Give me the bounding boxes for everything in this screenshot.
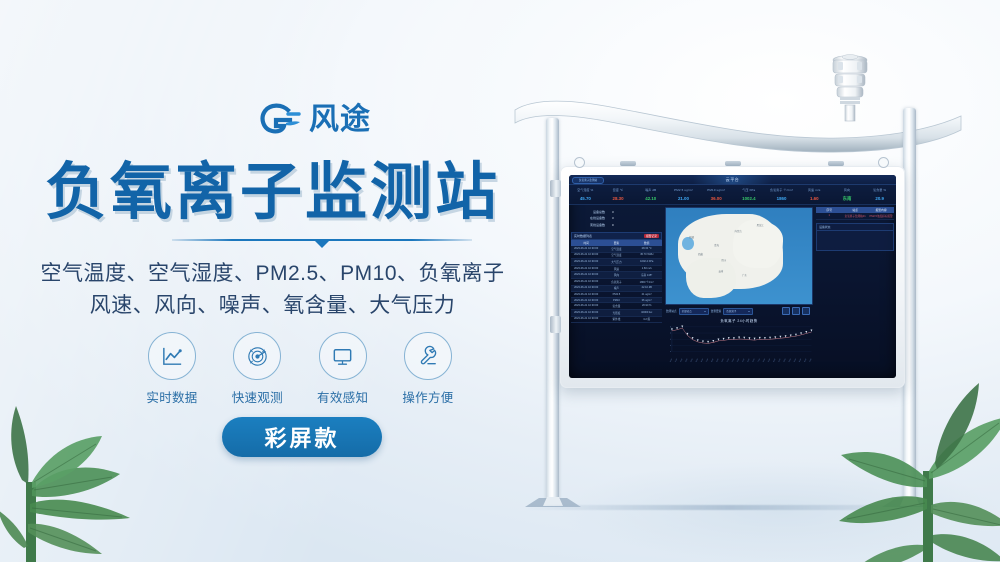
map-region-label: 黑龙江 [757, 223, 764, 227]
cell-element: 氧含量 [601, 303, 631, 309]
svg-text:15:00: 15:00 [747, 358, 750, 362]
kpi-card: 温度 ℃ 28.30 [602, 185, 635, 204]
kpi-strip: 空气湿度 % 45.70 温度 ℃ 28.30 噪声 dB 42.10 PM [569, 185, 896, 205]
chart-controls: 监测站点 全部站点 监测要素 负氧离子 [665, 305, 813, 317]
support-post-icon [546, 118, 559, 503]
cabinet-tab-icon [828, 161, 844, 166]
cell-element: 紫外线 [601, 317, 631, 323]
kpi-label: 负氧离子 个/cm³ [765, 188, 798, 192]
cell-value: 1002.4 hPa [632, 259, 662, 265]
kpi-card: 风向 东南 [831, 185, 864, 204]
stat-label: 离线设备数 [583, 223, 605, 227]
cell-value: 1860 个/cm³ [632, 279, 662, 285]
device-stats: 设备总数 3 在线设备数 3 离线设备数 0 [571, 207, 662, 232]
kpi-card: 氧含量 % 20.9 [863, 185, 896, 204]
svg-text:04:00: 04:00 [690, 358, 693, 362]
station-dropdown[interactable]: 全部站点 [679, 308, 709, 315]
kpi-card: 风速 m/s 1.60 [798, 185, 831, 204]
kpi-value: 21.00 [667, 196, 700, 201]
cell-element: 光照度 [601, 310, 631, 316]
kpi-label: 噪声 dB [634, 188, 667, 192]
table-row[interactable]: 2023-06-21 10:30:00 氧含量 20.90 % [571, 303, 662, 310]
data-table-header: 实时数据列表 报警记录 [571, 232, 662, 240]
divider-triangle-icon [314, 240, 330, 248]
svg-text:19:00: 19:00 [768, 358, 771, 362]
kpi-label: PM2.5 ug/m³ [667, 188, 700, 192]
kpi-label: 风速 m/s [798, 188, 831, 192]
ultrasonic-weather-sensor-icon [818, 52, 882, 122]
cabinet-tab-icon [620, 161, 636, 166]
feature-label: 快速观测 [225, 387, 289, 406]
stat-value: 3 [612, 210, 614, 214]
map-region-label: 广东 [742, 273, 747, 277]
svg-text:26:00: 26:00 [804, 358, 807, 362]
poster-canvas: 风途 负氧离子监测站 空气温度、空气湿度、PM2.5、PM10、负氧离子 风速、… [0, 0, 1000, 562]
kpi-label: 氧含量 % [863, 188, 896, 192]
kpi-label: PM10 ug/m³ [700, 188, 733, 192]
dashboard-header: 负氧离子监测站 云平台 [569, 175, 896, 185]
cell-time: 2023-06-21 10:30:00 [571, 317, 601, 323]
alarm-badge[interactable]: 报警记录 [644, 234, 659, 238]
cabinet-eyelet-icon [878, 157, 889, 168]
svg-text:02:00: 02:00 [680, 358, 683, 362]
svg-text:01:00: 01:00 [675, 358, 678, 362]
cell-value: 3.2 级 [632, 317, 662, 323]
cell-element: 噪声 [601, 286, 631, 292]
svg-text:05:00: 05:00 [695, 358, 698, 362]
kpi-value: 42.10 [634, 196, 667, 201]
kpi-value: 1.60 [798, 196, 831, 201]
cell-time: 2023-06-21 10:30:00 [571, 246, 601, 252]
kpi-value: 1002.4 [733, 196, 766, 201]
svg-text:11:00: 11:00 [726, 358, 729, 362]
svg-text:24:00: 24:00 [793, 358, 796, 362]
svg-text:17:00: 17:00 [757, 358, 760, 362]
subtitle-line-1: 空气温度、空气湿度、PM2.5、PM10、负氧离子 [0, 258, 545, 290]
feature-label: 操作方便 [396, 387, 460, 406]
cell-time: 2023-06-21 10:30:00 [571, 259, 601, 265]
feature-label: 有效感知 [311, 387, 375, 406]
dashboard-body: 设备总数 3 在线设备数 3 离线设备数 0 [569, 205, 896, 366]
table-row[interactable]: 2023-06-21 10:30:00 风速 1.60 m/s [571, 266, 662, 273]
cabinet-hinge-icon [550, 180, 561, 197]
map-region-label: 内蒙古 [735, 229, 742, 233]
cell-element: PM2.5 [601, 292, 631, 297]
cell-element: 风速 [601, 266, 631, 272]
svg-text:10:00: 10:00 [721, 358, 724, 362]
subtitle-line-2: 风速、风向、噪声、氧含量、大气压力 [0, 290, 545, 322]
svg-text:13:00: 13:00 [737, 358, 740, 362]
svg-text:23:00: 23:00 [788, 358, 791, 362]
title-divider [172, 236, 472, 248]
cabinet-tab-icon [725, 161, 741, 166]
table-row[interactable]: 2023-06-21 10:30:00 紫外线 3.2 级 [571, 317, 662, 324]
kpi-card: 负氧离子 个/cm³ 1860 [765, 185, 798, 204]
landmass-shape [686, 258, 736, 298]
svg-text:14:00: 14:00 [742, 358, 745, 362]
table-row[interactable]: 2023-06-21 10:30:00 空气温度 28.30 ℃ [571, 246, 662, 253]
control-label: 监测要素 [711, 309, 722, 313]
lcd-screen[interactable]: 负氧离子监测站 云平台 空气湿度 % 45.70 温度 ℃ 28.30 [569, 175, 896, 378]
stat-row: 设备总数 3 [583, 210, 662, 214]
cell-value: 东南 135° [632, 272, 662, 278]
left-column: 设备总数 3 在线设备数 3 离线设备数 0 [569, 205, 664, 366]
cell-element: 风向 [601, 272, 631, 278]
right-column: 序号 站点 报警内容 1 负氧离子监测站01 PM2.5浓度超标报警 设备状态 [814, 205, 896, 366]
kpi-card: 空气湿度 % 45.70 [569, 185, 602, 204]
cell-time: 2023-06-21 10:30:00 [571, 279, 601, 285]
cell-element: 空气湿度 [601, 253, 631, 259]
map-region-label: 云南 [719, 269, 724, 273]
cell-time: 2023-06-21 10:30:00 [571, 286, 601, 292]
brand-logo: 风途 [258, 101, 371, 139]
feature-item-fast-observation[interactable]: 快速观测 [225, 332, 289, 406]
cell-time: 2023-06-21 10:30:00 [571, 298, 601, 303]
stat-row: 离线设备数 0 [583, 223, 662, 227]
table-row[interactable]: 2023-06-21 10:30:00 风向 东南 135° [571, 272, 662, 279]
display-cabinet: 负氧离子监测站 云平台 空气湿度 % 45.70 温度 ℃ 28.30 [560, 166, 905, 388]
feature-item-easy-operation[interactable]: 操作方便 [396, 332, 460, 406]
cabinet-eyelet-icon [574, 157, 585, 168]
kpi-card: 噪声 dB 42.10 [634, 185, 667, 204]
stat-value: 0 [612, 223, 614, 227]
feature-item-effective-sensing[interactable]: 有效感知 [311, 332, 375, 406]
chart-svg: 00:0001:0002:0003:0004:0005:0006:0007:00… [665, 324, 813, 362]
table-row[interactable]: 2023-06-21 10:30:00 空气湿度 45.70 %RH [571, 253, 662, 260]
cell-value: 28.30 ℃ [632, 246, 662, 252]
element-dropdown[interactable]: 负氧离子 [723, 308, 753, 315]
cell-value: 45.70 %RH [632, 253, 662, 259]
svg-text:27:00: 27:00 [809, 358, 812, 362]
cell-time: 2023-06-21 10:30:00 [571, 310, 601, 316]
svg-text:08:00: 08:00 [711, 358, 714, 362]
svg-text:20:00: 20:00 [773, 358, 776, 362]
trend-chart: 负氧离子 24小时趋势 00:0001:0002:0003:0004:0005:… [665, 318, 813, 366]
svg-text:03:00: 03:00 [685, 358, 688, 362]
svg-text:07:00: 07:00 [706, 358, 709, 362]
cabinet-hinge-icon [550, 316, 561, 333]
table-body: 2023-06-21 10:30:00 空气温度 28.30 ℃ 2023-06… [571, 246, 662, 323]
cell-element: PM10 [601, 298, 631, 303]
table-row[interactable]: 2023-06-21 10:30:00 噪声 42.10 dB [571, 286, 662, 293]
card-title: 设备状态 [817, 224, 893, 231]
kpi-value: 45.70 [569, 196, 602, 201]
map-region-label: 新疆 [689, 235, 694, 239]
svg-text:18:00: 18:00 [762, 358, 765, 362]
cell-time: 2023-06-21 10:30:00 [571, 272, 601, 278]
monitor-icon [319, 332, 367, 380]
feature-list: 实时数据 快速观测 [140, 332, 460, 406]
svg-text:22:00: 22:00 [783, 358, 786, 362]
dashboard-title: 云平台 [569, 177, 896, 183]
hero-subtitle: 空气温度、空气湿度、PM2.5、PM10、负氧离子 风速、风向、噪声、氧含量、大… [0, 258, 545, 321]
svg-text:16:00: 16:00 [752, 358, 755, 362]
brand-name: 风途 [309, 105, 371, 135]
device-status-card: 设备状态 [816, 223, 894, 251]
stat-value: 3 [612, 216, 614, 220]
cell-value: 21 ug/m³ [632, 292, 662, 297]
kpi-value: 20.9 [863, 196, 896, 201]
banana-leaf-icon [0, 362, 182, 562]
svg-text:06:00: 06:00 [700, 358, 703, 362]
alarm-row[interactable]: 1 负氧离子监测站01 PM2.5浓度超标报警 [816, 213, 894, 220]
cell-index: 1 [816, 213, 842, 219]
kpi-value: 1860 [765, 196, 798, 201]
stat-row: 在线设备数 3 [583, 216, 662, 220]
table-row[interactable]: 2023-06-21 10:30:00 大气压力 1002.4 hPa [571, 259, 662, 266]
page-title: 负氧离子监测站 [0, 160, 545, 225]
cell-value: 36 ug/m³ [632, 298, 662, 303]
download-icon[interactable] [782, 307, 790, 315]
table-row[interactable]: 2023-06-21 10:30:00 负氧离子 1860 个/cm³ [571, 279, 662, 286]
model-badge[interactable]: 彩屏款 [222, 417, 382, 457]
curved-canopy-icon [509, 92, 969, 154]
kpi-card: PM2.5 ug/m³ 21.00 [667, 185, 700, 204]
svg-text:12:00: 12:00 [731, 358, 734, 362]
cell-element: 空气温度 [601, 246, 631, 252]
svg-text:21:00: 21:00 [778, 358, 781, 362]
cell-element: 负氧离子 [601, 279, 631, 285]
stat-label: 设备总数 [583, 210, 605, 214]
cell-time: 2023-06-21 10:30:00 [571, 303, 601, 309]
map-region-label: 四川 [721, 258, 726, 262]
cell-value: 32000 lux [632, 310, 662, 316]
kpi-value: 28.30 [602, 196, 635, 201]
stat-label: 在线设备数 [583, 216, 605, 220]
cell-time: 2023-06-21 10:30:00 [571, 292, 601, 297]
wrench-icon [404, 332, 452, 380]
map-region-label: 青海 [714, 243, 719, 247]
cell-message: PM2.5浓度超标报警 [868, 213, 894, 219]
kpi-label: 空气湿度 % [569, 188, 602, 192]
cell-element: 大气压力 [601, 259, 631, 265]
cell-value: 42.10 dB [632, 286, 662, 292]
svg-text:25:00: 25:00 [799, 358, 802, 362]
cell-value: 1.60 m/s [632, 266, 662, 272]
control-label: 监测站点 [666, 309, 677, 313]
cell-time: 2023-06-21 10:30:00 [571, 266, 601, 272]
chart-toolbar [782, 307, 812, 315]
svg-text:09:00: 09:00 [716, 358, 719, 362]
cell-time: 2023-06-21 10:30:00 [571, 253, 601, 259]
center-column: 新疆 西藏 青海 内蒙古 黑龙江 四川 云南 广东 监测站点 [664, 205, 814, 366]
map-region-label: 西藏 [698, 252, 703, 256]
fullscreen-icon[interactable] [802, 307, 810, 315]
kpi-card: 气压 hPa 1002.4 [733, 185, 766, 204]
table-row[interactable]: 2023-06-21 10:30:00 光照度 32000 lux [571, 310, 662, 317]
refresh-icon[interactable] [792, 307, 800, 315]
chart-title: 负氧离子 24小时趋势 [665, 318, 813, 323]
kpi-value: 36.00 [700, 196, 733, 201]
kpi-value: 东南 [831, 196, 864, 202]
kpi-card: PM10 ug/m³ 36.00 [700, 185, 733, 204]
table-title: 实时数据列表 [574, 234, 592, 238]
cell-station: 负氧离子监测站01 [842, 213, 868, 219]
banana-leaf-icon [827, 359, 1000, 562]
kpi-label: 温度 ℃ [602, 188, 635, 192]
cell-value: 20.90 % [632, 303, 662, 309]
cloud-dashboard: 负氧离子监测站 云平台 空气湿度 % 45.70 温度 ℃ 28.30 [569, 175, 896, 378]
radar-sensor-icon [233, 332, 281, 380]
kpi-label: 气压 hPa [733, 188, 766, 192]
fengtu-logo-icon [258, 101, 302, 139]
svg-text:00:00: 00:00 [669, 358, 672, 362]
kpi-label: 风向 [831, 188, 864, 192]
china-map[interactable]: 新疆 西藏 青海 内蒙古 黑龙江 四川 云南 广东 [665, 207, 813, 305]
